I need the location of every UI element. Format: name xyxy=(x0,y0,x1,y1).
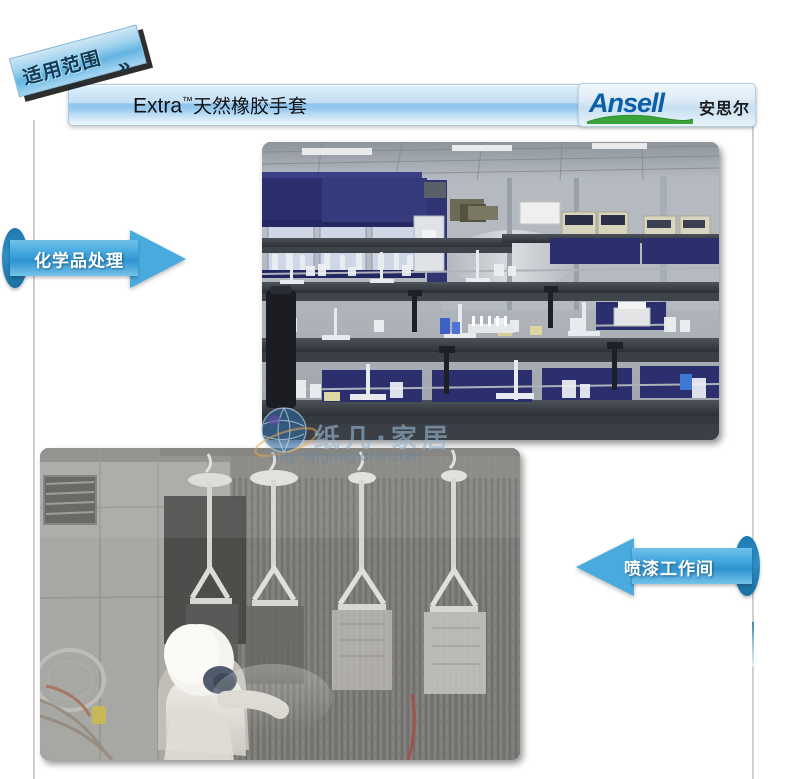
ansell-cn-name: 安思尔 xyxy=(699,95,750,119)
trademark-symbol: ™ xyxy=(182,96,193,108)
photo-laboratory xyxy=(262,142,719,440)
callout-spray-booth: 喷漆工作间 xyxy=(572,536,762,598)
callout-label-chemical-handling: 化学品处理 xyxy=(34,247,124,272)
scope-tab-label: 适用范围 xyxy=(20,43,104,90)
scope-tab-group: 适用范围 » xyxy=(8,40,168,135)
ansell-logo-plate: Ansell 安思尔 xyxy=(578,83,756,127)
page-root: Extra™天然橡胶手套 Ansell 安思尔 适用范围 » 化学品处理 喷漆工… xyxy=(0,0,797,779)
content-frame-right-border xyxy=(752,120,754,779)
content-frame-right-accent xyxy=(752,622,754,667)
callout-label-spray-booth: 喷漆工作间 xyxy=(624,555,714,580)
callout-chemical-handling: 化学品处理 xyxy=(0,228,190,290)
arrow-head-right-icon xyxy=(130,230,186,288)
content-frame-left-border xyxy=(33,120,35,779)
title-product-cn: 天然橡胶手套 xyxy=(193,96,307,118)
ansell-swoosh-icon xyxy=(587,112,693,124)
photo-spray-paint-booth xyxy=(40,448,520,760)
